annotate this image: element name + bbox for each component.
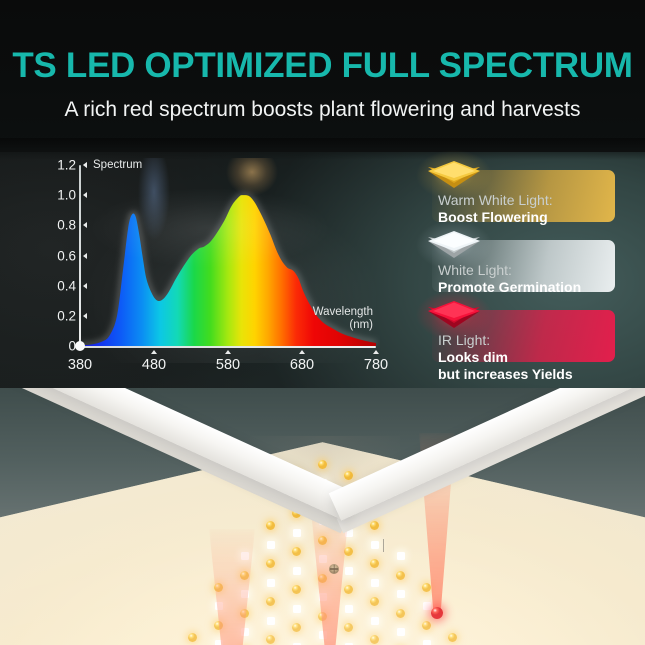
ir-led-left-beam bbox=[209, 529, 255, 645]
y-axis-tick bbox=[83, 313, 87, 319]
warm-white-led bbox=[188, 633, 197, 642]
x-axis-unit-text: (nm) bbox=[289, 319, 373, 332]
warm-white-led bbox=[266, 521, 275, 530]
y-axis-label: 1.0 bbox=[57, 188, 76, 203]
warm-white-led bbox=[292, 623, 301, 632]
ir-kind-label: IR Light: bbox=[438, 332, 573, 349]
warm-white-kind-label: Warm White Light: bbox=[438, 192, 553, 209]
grow-light-panel bbox=[0, 396, 645, 645]
warm-white-led bbox=[344, 471, 353, 480]
y-axis-label: 0.6 bbox=[57, 248, 76, 263]
white-led bbox=[267, 579, 275, 587]
warm-white-led bbox=[422, 621, 431, 630]
ir-benefit-label: Looks dim bbox=[438, 349, 573, 366]
warm-white-led bbox=[292, 585, 301, 594]
origin-marker bbox=[75, 341, 85, 351]
x-axis-tick bbox=[225, 350, 231, 354]
y-axis-label: 0.4 bbox=[57, 278, 76, 293]
spectrum-legend-label: Spectrum bbox=[93, 159, 142, 171]
x-axis-label: 580 bbox=[216, 357, 240, 373]
white-led bbox=[371, 579, 379, 587]
warm-white-led bbox=[266, 559, 275, 568]
promo-graphic: TS LED OPTIMIZED FULL SPECTRUM A rich re… bbox=[0, 0, 645, 645]
warm-white-led bbox=[448, 633, 457, 642]
white-led bbox=[293, 529, 301, 537]
ir-text-block: IR Light: Looks dim but increases Yields bbox=[438, 332, 573, 383]
spectrum-legend-tick bbox=[83, 162, 87, 168]
warm-white-led bbox=[370, 635, 379, 644]
y-axis-tick bbox=[83, 192, 87, 198]
y-axis-tick bbox=[83, 222, 87, 228]
led-legend: Warm White Light: Boost Flowering White … bbox=[420, 152, 645, 380]
x-axis-title: Wavelength (nm) bbox=[289, 306, 373, 332]
y-axis-label: 1.2 bbox=[57, 158, 76, 173]
warm-white-led bbox=[370, 597, 379, 606]
white-led bbox=[397, 552, 405, 560]
x-axis-label: 380 bbox=[68, 357, 92, 373]
y-axis-labels: 1.21.00.80.60.40.20 bbox=[46, 158, 76, 354]
warm-white-led-chip bbox=[426, 158, 482, 192]
page-subtitle: A rich red spectrum boosts plant floweri… bbox=[0, 98, 645, 122]
y-axis-tick bbox=[83, 283, 87, 289]
white-led bbox=[423, 640, 431, 645]
panel-screw-top bbox=[329, 564, 339, 574]
page-title: TS LED OPTIMIZED FULL SPECTRUM bbox=[0, 46, 645, 86]
warm-white-led bbox=[396, 571, 405, 580]
y-axis-label: 0.8 bbox=[57, 218, 76, 233]
y-axis-tick bbox=[83, 253, 87, 259]
white-led-chip bbox=[426, 228, 482, 262]
ir-benefit-label-line2: but increases Yields bbox=[438, 366, 573, 383]
warm-white-led bbox=[318, 460, 327, 469]
warm-white-led bbox=[396, 609, 405, 618]
warm-white-led bbox=[266, 597, 275, 606]
y-axis-label: 0.2 bbox=[57, 308, 76, 323]
warm-white-led bbox=[370, 521, 379, 530]
x-axis-label: 480 bbox=[142, 357, 166, 373]
white-led bbox=[371, 541, 379, 549]
white-led bbox=[267, 617, 275, 625]
warm-white-led bbox=[266, 635, 275, 644]
white-led bbox=[397, 628, 405, 636]
ir-led-right bbox=[431, 607, 443, 619]
white-led bbox=[293, 605, 301, 613]
warm-white-led bbox=[292, 547, 301, 556]
warm-white-led bbox=[370, 559, 379, 568]
ir-led-chip bbox=[426, 298, 482, 332]
panel-hairline-mark bbox=[383, 539, 384, 552]
white-led bbox=[293, 567, 301, 575]
x-axis-tick bbox=[151, 350, 157, 354]
white-kind-label: White Light: bbox=[438, 262, 581, 279]
x-axis-line bbox=[80, 346, 376, 348]
x-axis-tick bbox=[299, 350, 305, 354]
y-axis-line bbox=[79, 165, 81, 347]
beam-cone bbox=[209, 529, 255, 645]
x-axis-label: 680 bbox=[290, 357, 314, 373]
x-axis-tick bbox=[373, 350, 379, 354]
spectrum-chart: 1.21.00.80.60.40.20 380480580680780 Spec… bbox=[46, 158, 386, 373]
x-axis-label: 780 bbox=[364, 357, 388, 373]
led-grow-light-panel-photo bbox=[0, 388, 645, 645]
white-led bbox=[397, 590, 405, 598]
white-led bbox=[371, 617, 379, 625]
white-led bbox=[267, 541, 275, 549]
x-axis-title-text: Wavelength bbox=[289, 306, 373, 319]
